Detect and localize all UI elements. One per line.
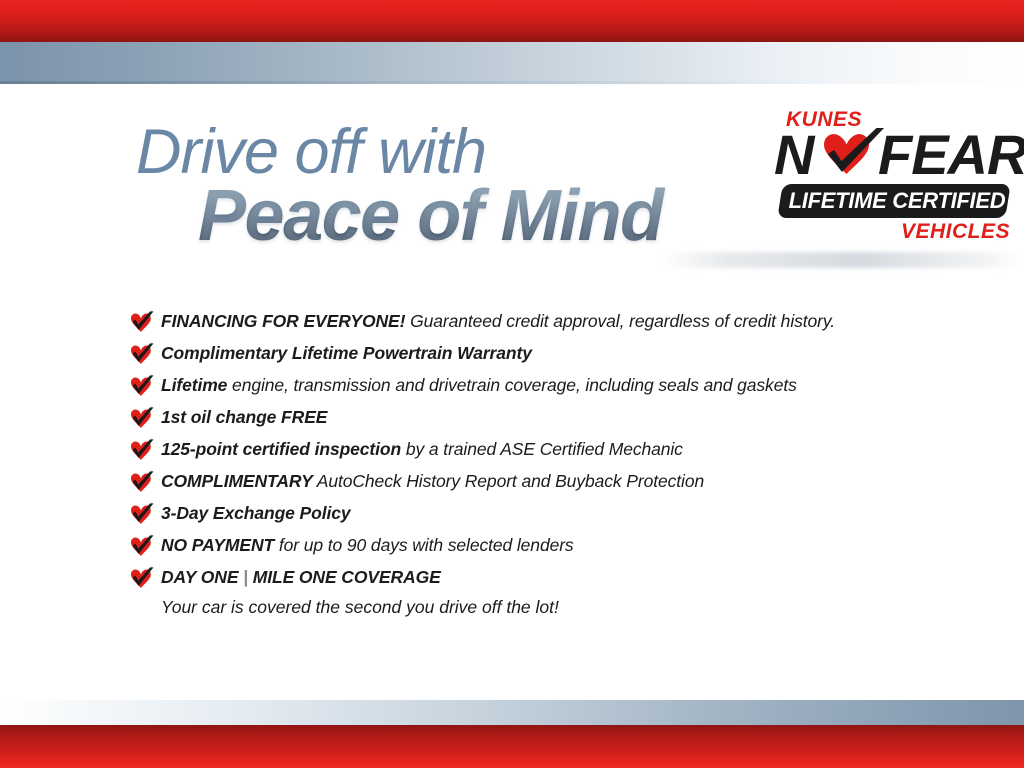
logo-banner-label: LIFETIME CERTIFIED <box>786 186 1008 216</box>
list-item: 1st oil change FREE <box>128 402 988 434</box>
headline-underline-shadow <box>660 252 1024 268</box>
list-item-bold: 3-Day Exchange Policy <box>161 503 351 523</box>
logo-word-vehicles: VEHICLES <box>901 220 1010 244</box>
heart-check-bullet-icon <box>128 439 154 461</box>
list-item-day-one: DAY ONE | MILE ONE COVERAGE <box>128 562 988 594</box>
heart-check-bullet-icon <box>128 535 154 557</box>
list-item-text: 1st oil change FREE <box>161 402 988 433</box>
benefits-list: FINANCING FOR EVERYONE! Guaranteed credi… <box>128 306 988 620</box>
logo-no-fear-wordmark: N FEAR <box>772 126 1016 184</box>
list-item-text: 3-Day Exchange Policy <box>161 498 988 529</box>
heart-check-bullet-icon <box>128 503 154 525</box>
list-item-rest: by a trained ASE Certified Mechanic <box>401 439 683 459</box>
list-item-rest: AutoCheck History Report and Buyback Pro… <box>313 471 704 491</box>
list-item: Lifetime engine, transmission and drivet… <box>128 370 988 402</box>
day-one-separator: | <box>238 567 252 587</box>
top-gray-bar <box>0 42 1024 84</box>
top-red-bar <box>0 0 1024 42</box>
logo-letter-n: N <box>774 126 812 184</box>
list-item-text: DAY ONE | MILE ONE COVERAGE <box>161 562 988 593</box>
heart-check-bullet-icon <box>128 343 154 365</box>
list-item-text: 125-point certified inspection by a trai… <box>161 434 988 465</box>
heart-check-bullet-icon <box>128 311 154 333</box>
day-one-subtext: Your car is covered the second you drive… <box>161 594 988 620</box>
logo-word-fear: FEAR <box>878 126 1024 184</box>
list-item-bold: Complimentary Lifetime Powertrain Warran… <box>161 343 532 363</box>
bottom-gray-bar <box>0 700 1024 725</box>
list-item-text: COMPLIMENTARY AutoCheck History Report a… <box>161 466 988 497</box>
heart-check-bullet-icon <box>128 407 154 429</box>
heart-check-bullet-icon <box>128 471 154 493</box>
kunes-no-fear-logo: KUNES N FEAR LIFETIME CERTIFIED VEHICLES <box>772 108 1016 250</box>
list-item-bold: COMPLIMENTARY <box>161 471 313 491</box>
list-item-rest: engine, transmission and drivetrain cove… <box>227 375 796 395</box>
list-item-text: Complimentary Lifetime Powertrain Warran… <box>161 338 988 369</box>
mile-one-label: MILE ONE COVERAGE <box>253 567 441 587</box>
headline-line-2: Peace of Mind <box>198 180 756 252</box>
day-one-label: DAY ONE <box>161 567 238 587</box>
list-item-bold: FINANCING FOR EVERYONE! <box>161 311 405 331</box>
list-item-rest: for up to 90 days with selected lenders <box>274 535 574 555</box>
list-item-bold: 125-point certified inspection <box>161 439 401 459</box>
list-item-rest: Guaranteed credit approval, regardless o… <box>405 311 835 331</box>
list-item-text: FINANCING FOR EVERYONE! Guaranteed credi… <box>161 306 988 337</box>
list-item: 3-Day Exchange Policy <box>128 498 988 530</box>
list-item: FINANCING FOR EVERYONE! Guaranteed credi… <box>128 306 988 338</box>
headline-line-1: Drive off with <box>136 122 756 184</box>
list-item-bold: Lifetime <box>161 375 227 395</box>
heart-check-bullet-icon <box>128 375 154 397</box>
promo-poster: Drive off with Peace of Mind KUNES N FEA… <box>0 0 1024 768</box>
list-item: 125-point certified inspection by a trai… <box>128 434 988 466</box>
list-item-bold: 1st oil change FREE <box>161 407 327 427</box>
list-item-text: NO PAYMENT for up to 90 days with select… <box>161 530 988 561</box>
bottom-red-bar <box>0 725 1024 768</box>
list-item-text: Lifetime engine, transmission and drivet… <box>161 370 988 401</box>
list-item-bold: NO PAYMENT <box>161 535 274 555</box>
list-item: COMPLIMENTARY AutoCheck History Report a… <box>128 466 988 498</box>
list-item: NO PAYMENT for up to 90 days with select… <box>128 530 988 562</box>
heart-checkmark-icon <box>814 128 888 190</box>
heart-check-bullet-icon <box>128 567 154 589</box>
headline-block: Drive off with Peace of Mind <box>136 122 756 252</box>
list-item: Complimentary Lifetime Powertrain Warran… <box>128 338 988 370</box>
